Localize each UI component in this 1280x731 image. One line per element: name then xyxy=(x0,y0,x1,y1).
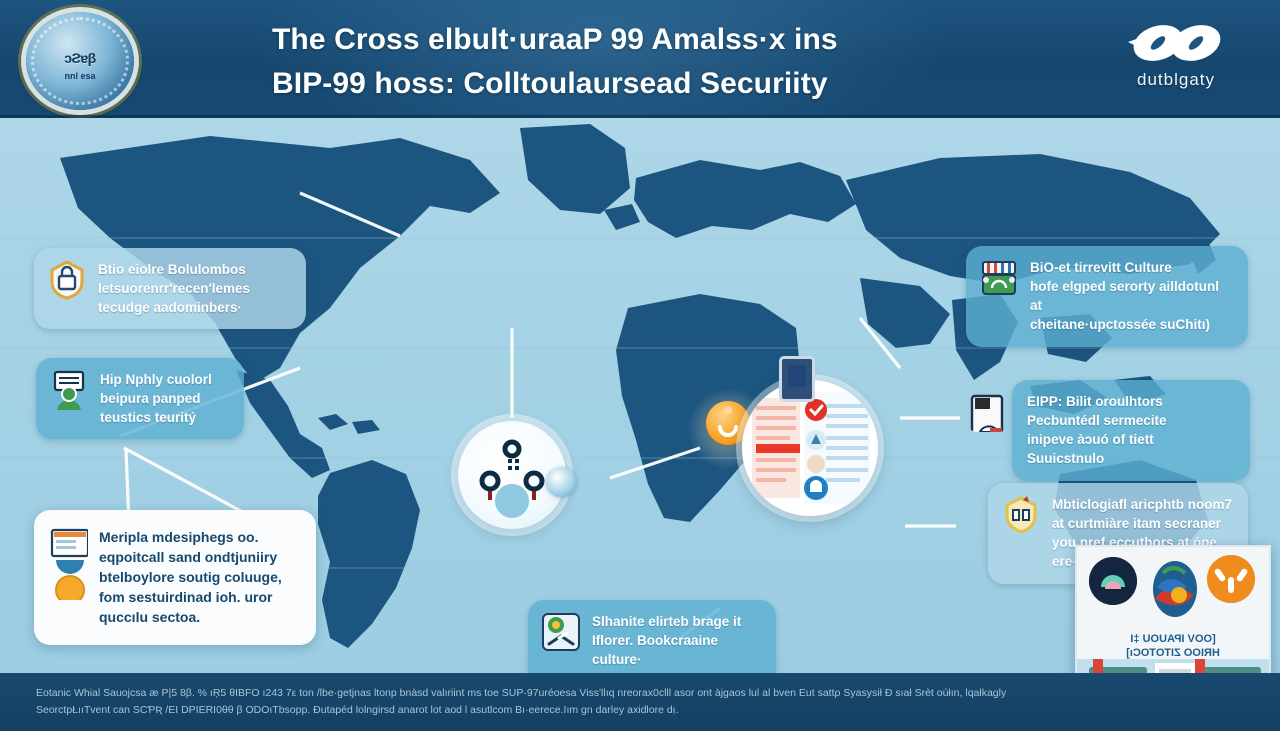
colorful-abstract-figure xyxy=(1135,559,1215,629)
person-at-desk-icon xyxy=(968,392,1008,432)
hub-center-dot xyxy=(495,484,529,518)
emblem-label: ɔƧɐβ xyxy=(26,51,134,66)
callout-top-left[interactable]: Btio eiolre Bolulombos letsuorenrr'recen… xyxy=(34,248,306,329)
title-line-2: BIP-99 hoss: Colltoulaursead Securiity xyxy=(272,62,952,106)
books-server-icon xyxy=(979,258,1019,298)
footer-bar: Eotanic Whial Sauojcsa æ P|5 8β. % ıŖ5 θ… xyxy=(0,673,1280,731)
footer-line-1: Eotanic Whial Sauojcsa æ P|5 8β. % ıŖ5 θ… xyxy=(36,685,1046,702)
callout-top-left-text: Btio eiolre Bolulombos letsuorenrr'recen… xyxy=(98,260,250,317)
hub-satellite-node[interactable] xyxy=(546,467,576,497)
callout-left-middle-text: Hip Nphly cuolorl beipura panped teustic… xyxy=(100,370,212,427)
logo-emblem: ɔƧɐβ nnl esa xyxy=(26,12,134,110)
callout-bottom-left-text: Meripla mdesiphegs oo. eqpoitcall sand o… xyxy=(99,528,282,627)
shield-lock-icon xyxy=(47,260,87,300)
callout-bottom-left[interactable]: Meripla mdesiphegs oo. eqpoitcall sand o… xyxy=(34,510,316,645)
handshake-globe-icon xyxy=(541,612,581,652)
infographic-canvas: ɔƧɐβ nnl esa The Cross elbult·uraaP 99 A… xyxy=(0,0,1280,731)
inset-desk-area xyxy=(1077,659,1269,673)
person-documents-icon xyxy=(49,370,89,410)
footer-text: Eotanic Whial Sauojcsa æ P|5 8β. % ıŖ5 θ… xyxy=(36,685,1046,719)
callout-right-middle[interactable]: EIPP: Bilit oroulhtors Pecbuntédl sermec… xyxy=(1012,380,1250,481)
brand-name: dutblgaty xyxy=(1106,70,1246,90)
callout-bottom-center-text: Slhanite elirteb brage it Iflorer. Bookc… xyxy=(592,612,760,673)
callout-top-right[interactable]: BiO-et tirrevitt Culture hofe elgped ser… xyxy=(966,246,1248,347)
dark-round-badge xyxy=(1089,557,1137,605)
callout-right-middle-text: EIPP: Bilit oroulhtors Pecbuntédl sermec… xyxy=(1027,392,1167,469)
workshop-inset-panel[interactable]: [OOV IPAUOU ‡I HRIOO ZITOTOCı] xyxy=(1075,545,1271,673)
header-bar: ɔƧɐβ nnl esa The Cross elbult·uraaP 99 A… xyxy=(0,0,1280,118)
shield-badge-icon xyxy=(1001,495,1041,535)
callout-top-right-text: BiO-et tirrevitt Culture hofe elgped ser… xyxy=(1030,258,1232,335)
callout-bottom-center[interactable]: Slhanite elirteb brage it Iflorer. Bookc… xyxy=(528,600,776,673)
world-map: Btio eiolre Bolulombos letsuorenrr'recen… xyxy=(0,118,1280,673)
footer-line-2: SeorctpŁııTvent can SCƤƦ /EI DPIERI0θθ β… xyxy=(36,702,1046,719)
brand-logo: dutblgaty xyxy=(1106,22,1246,102)
inset-title: [OOV IPAUOU ‡I HRIOO ZITOTOCı] xyxy=(1077,633,1269,661)
brand-glyph-icon xyxy=(1106,22,1246,68)
monitor-report-icon xyxy=(48,528,88,600)
callout-left-middle[interactable]: Hip Nphly cuolorl beipura panped teustic… xyxy=(36,358,244,439)
mobile-device-icon[interactable] xyxy=(779,356,815,402)
page-title: The Cross elbult·uraaP 99 Amalss·x ins B… xyxy=(272,18,952,105)
emblem-sublabel: nnl esa xyxy=(26,71,134,81)
title-line-1: The Cross elbult·uraaP 99 Amalss·x ins xyxy=(272,23,838,56)
